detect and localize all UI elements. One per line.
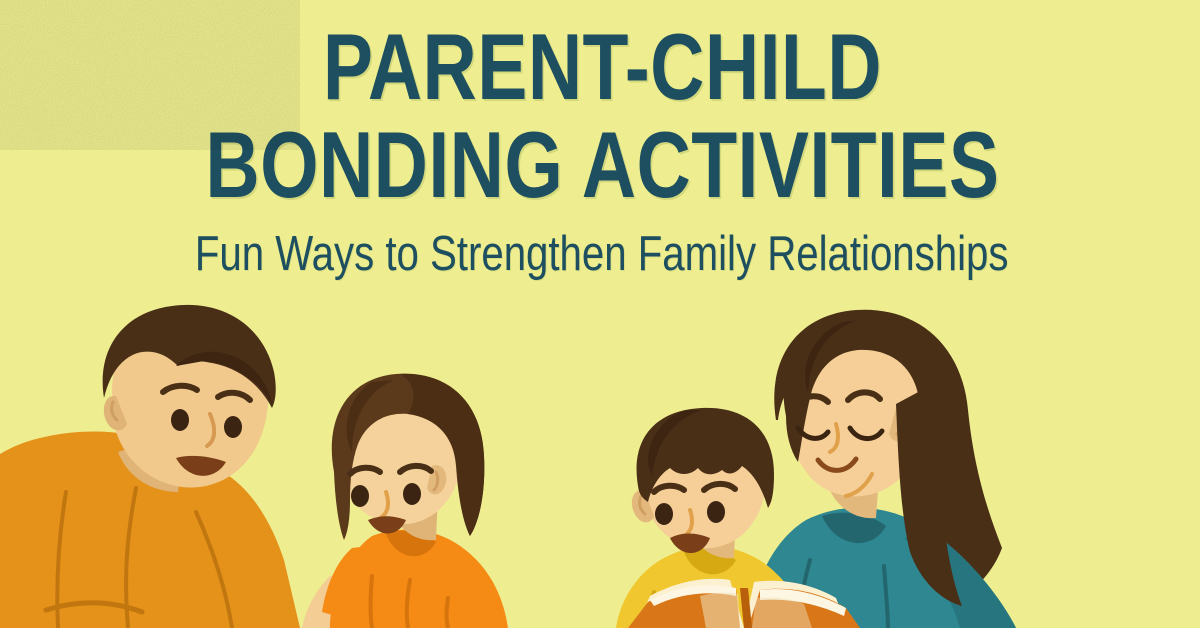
page-title-line-1: PARENT-CHILD <box>120 22 1080 112</box>
figure-father <box>0 305 300 628</box>
page-subtitle: Fun Ways to Strengthen Family Relationsh… <box>108 230 1092 279</box>
page-title-line-2: BONDING ACTIVITIES <box>120 120 1080 210</box>
banner-canvas: PARENT-CHILD BONDING ACTIVITIES Fun Ways… <box>0 0 1200 628</box>
figure-daughter <box>302 374 508 628</box>
headline-block: PARENT-CHILD BONDING ACTIVITIES Fun Ways… <box>0 22 1200 279</box>
figure-mother <box>748 310 1016 628</box>
